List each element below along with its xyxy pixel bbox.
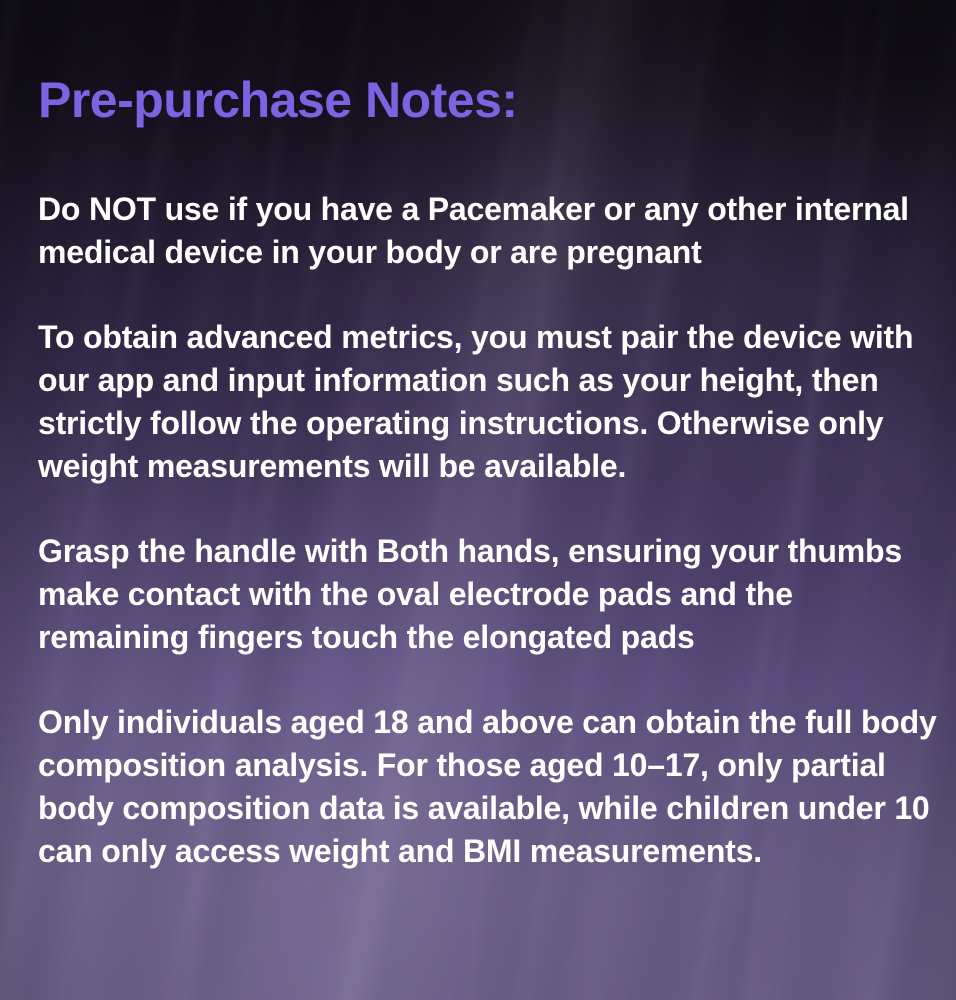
page-title: Pre-purchase Notes: [38,74,518,127]
note-paragraph-handle-grip-instruction: Grasp the handle with Both hands, ensuri… [38,530,944,659]
pre-purchase-notes-card: Pre-purchase Notes: Do NOT use if you ha… [0,0,956,1000]
note-paragraph-age-restrictions: Only individuals aged 18 and above can o… [38,701,944,873]
notes-list: Do NOT use if you have a Pacemaker or an… [38,188,944,873]
note-paragraph-pacemaker-warning: Do NOT use if you have a Pacemaker or an… [38,188,944,274]
content-container: Pre-purchase Notes: Do NOT use if you ha… [0,0,956,1000]
note-paragraph-advanced-metrics-pairing: To obtain advanced metrics, you must pai… [38,316,944,488]
